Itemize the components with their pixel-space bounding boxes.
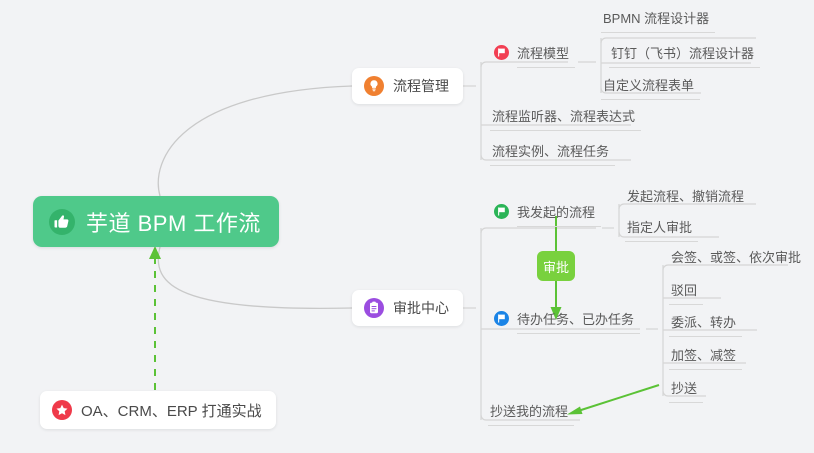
flag-icon (494, 45, 509, 60)
integration-dashed-arrow (149, 246, 161, 390)
leaf-listener-expression[interactable]: 流程监听器、流程表达式 (490, 108, 641, 131)
clipboard-icon (364, 298, 384, 318)
root-node[interactable]: 芋道 BPM 工作流 (33, 196, 279, 247)
branch-label-approval-center: 审批中心 (393, 298, 449, 318)
branch-label-flow-management: 流程管理 (393, 76, 449, 96)
thumbs-up-icon (49, 209, 75, 235)
mindmap-canvas: 芋道 BPM 工作流 流程管理 流程模型 BPMN 流程设计器 钉钉（飞书）流程… (0, 0, 814, 453)
leaf-reject[interactable]: 驳回 (669, 282, 703, 305)
leaf-carbon-copy[interactable]: 抄送 (669, 380, 703, 403)
leaf-delegate-transfer[interactable]: 委派、转办 (669, 314, 742, 337)
node-label-process-model: 流程模型 (517, 45, 575, 68)
flag-icon-red-wrap (494, 45, 509, 68)
node-process-model[interactable]: 流程模型 (494, 45, 575, 68)
branch-node-flow-management[interactable]: 流程管理 (352, 68, 463, 104)
leaf-start-cancel-process[interactable]: 发起流程、撤销流程 (625, 188, 750, 210)
leaf-countersign-modes[interactable]: 会签、或签、依次审批 (669, 249, 807, 271)
approval-annotation-pill: 审批 (537, 251, 575, 281)
leaf-cc-to-me-processes[interactable]: 抄送我的流程 (488, 403, 574, 426)
flag-icon (494, 311, 509, 326)
node-label-my-initiated-processes: 我发起的流程 (517, 204, 601, 227)
branch-node-approval-center[interactable]: 审批中心 (352, 290, 463, 326)
node-my-initiated-processes[interactable]: 我发起的流程 (494, 204, 601, 227)
leaf-dingtalk-designer[interactable]: 钉钉（飞书）流程设计器 (609, 45, 760, 68)
star-icon (52, 400, 72, 420)
flag-icon-blue-wrap (494, 311, 509, 334)
integration-node-label: OA、CRM、ERP 打通实战 (81, 400, 262, 421)
integration-node-oa-crm-erp[interactable]: OA、CRM、ERP 打通实战 (40, 391, 276, 429)
lightbulb-icon (364, 76, 384, 96)
leaf-add-remove-sign[interactable]: 加签、减签 (669, 347, 742, 370)
flag-icon (494, 204, 509, 219)
leaf-instance-task[interactable]: 流程实例、流程任务 (490, 143, 615, 166)
root-label: 芋道 BPM 工作流 (86, 206, 261, 238)
flag-icon-green-wrap (494, 204, 509, 227)
leaf-bpmn-designer[interactable]: BPMN 流程设计器 (601, 10, 715, 33)
cc-flow-arrow (567, 385, 659, 415)
leaf-custom-form[interactable]: 自定义流程表单 (601, 77, 700, 100)
leaf-assignee-approval[interactable]: 指定人审批 (625, 219, 698, 242)
node-label-todo-done-tasks: 待办任务、已办任务 (517, 311, 640, 334)
node-todo-done-tasks[interactable]: 待办任务、已办任务 (494, 311, 640, 334)
